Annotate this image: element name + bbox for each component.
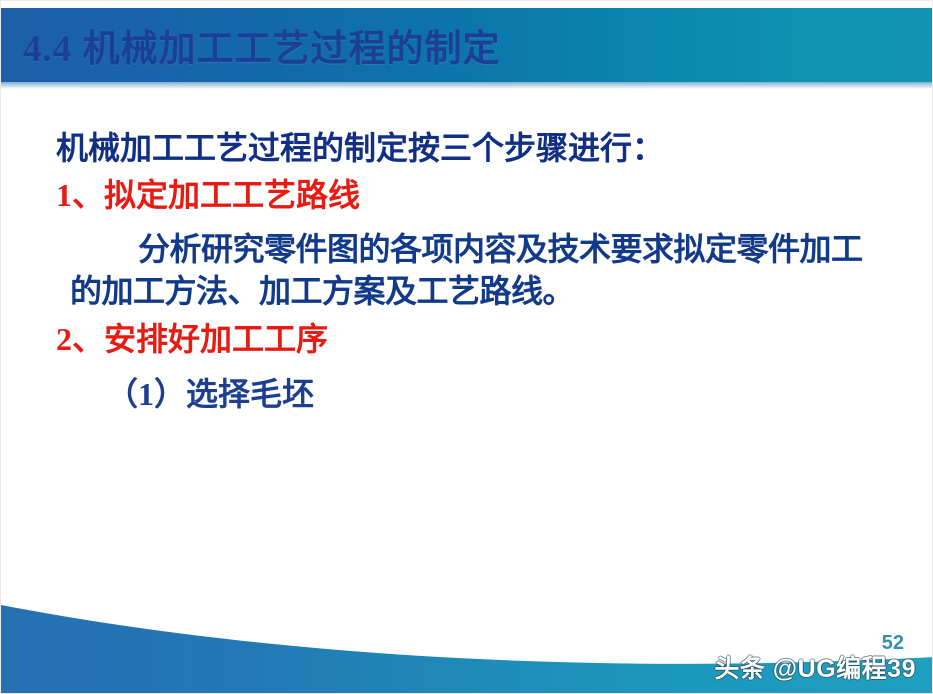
slide-body: 机械加工工艺过程的制定按三个步骤进行： 1、拟定加工工艺路线 分析研究零件图的各… <box>56 129 876 415</box>
step-2-item-1: （1）选择毛坯 <box>106 369 876 415</box>
page-title: 4.4 机械加工工艺过程的制定 <box>23 18 501 72</box>
step-1-heading: 1、拟定加工工艺路线 <box>56 176 876 215</box>
step-1-paragraph: 分析研究零件图的各项内容及技术要求拟定零件加工的加工方法、加工方案及工艺路线。 <box>70 229 876 312</box>
slide-canvas: 4.4 机械加工工艺过程的制定 机械加工工艺过程的制定按三个步骤进行： 1、拟定… <box>0 0 933 694</box>
slide-title-bar: 4.4 机械加工工艺过程的制定 <box>1 8 933 82</box>
watermark-label: 头条 @UG编程39 <box>714 649 916 685</box>
intro-line: 机械加工工艺过程的制定按三个步骤进行： <box>56 129 876 168</box>
step-2-heading: 2、安排好加工工序 <box>56 320 876 359</box>
